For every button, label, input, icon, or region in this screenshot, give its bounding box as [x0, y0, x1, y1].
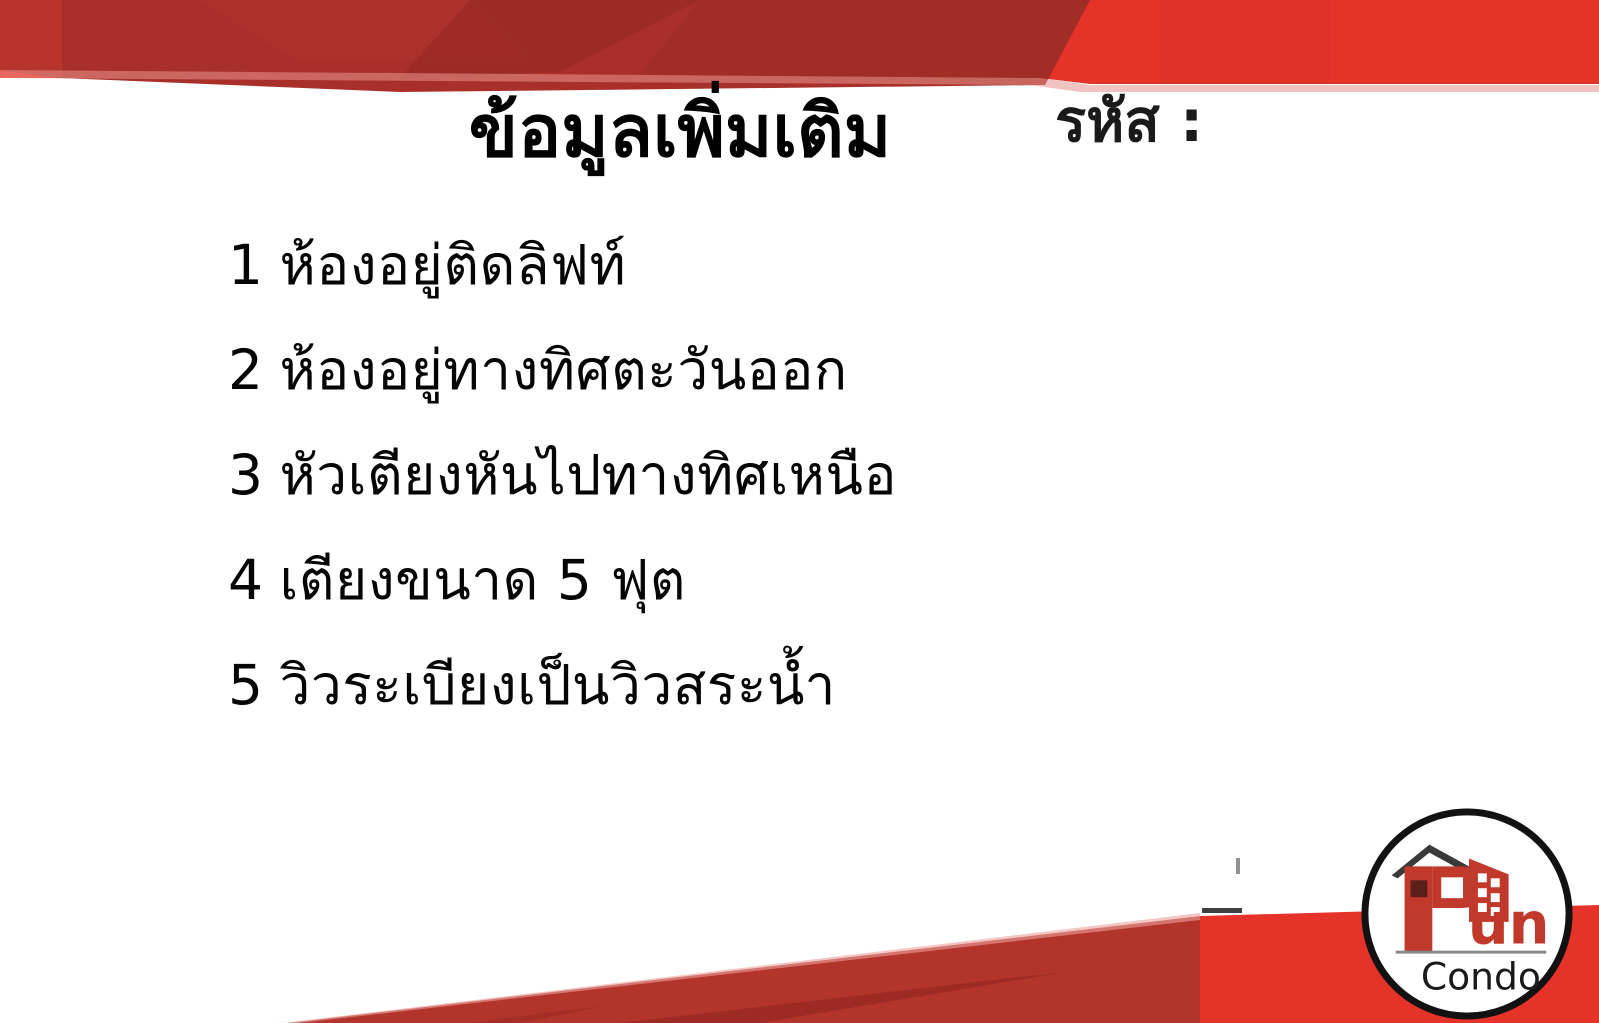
- list-item-label: หัวเตียงหันไปทางทิศเหนือ: [280, 443, 898, 507]
- list-item: 1ห้องอยู่ติดลิฟท์: [228, 238, 897, 293]
- pun-condo-logo: un Condo: [1358, 805, 1576, 1023]
- logo-underline: [1396, 951, 1547, 954]
- bottom-banner-wedge-dark: [620, 973, 1060, 1023]
- list-item: 3หัวเตียงหันไปทางทิศเหนือ: [228, 448, 897, 503]
- page-title: ข้อมูลเพิ่มเติม: [400, 95, 960, 167]
- logo-svg: un Condo: [1358, 805, 1576, 1023]
- additional-info-list: 1ห้องอยู่ติดลิฟท์2ห้องอยู่ทางทิศตะวันออก…: [228, 238, 897, 763]
- list-item-label: วิวระเบียงเป็นวิวสระน้ำ: [280, 653, 836, 717]
- logo-window-dark: [1411, 880, 1428, 897]
- top-banner-wedge-dark2: [640, 0, 1090, 85]
- list-item-label: ห้องอยู่ทางทิศตะวันออก: [280, 338, 848, 402]
- logo-brand-bottom: Condo: [1421, 954, 1541, 998]
- top-banner-wedge-dark: [400, 0, 700, 78]
- list-item-number: 1: [228, 238, 264, 293]
- top-banner-bright: [0, 0, 1599, 84]
- list-item: 2ห้องอยู่ทางทิศตะวันออก: [228, 343, 897, 398]
- bottom-banner-dark: [288, 916, 1200, 1023]
- top-banner-dark-left: [0, 0, 1090, 92]
- list-item-label: เตียงขนาด 5 ฟุต: [280, 548, 687, 612]
- logo-brand-top: un: [1468, 891, 1550, 958]
- bottom-banner-edge-glow: [283, 913, 1200, 1023]
- list-item-number: 2: [228, 343, 264, 398]
- list-item-number: 3: [228, 448, 264, 503]
- logo-p-letter-icon: [1405, 866, 1433, 951]
- code-label: รหัส :: [1055, 92, 1203, 150]
- scan-artifact-mark: [1236, 858, 1240, 874]
- logo-p-counter: [1441, 877, 1463, 898]
- list-item: 4เตียงขนาด 5 ฟุต: [228, 553, 897, 608]
- list-item-number: 5: [228, 658, 264, 713]
- top-banner-strip-mid: [200, 0, 530, 62]
- slide-canvas: ข้อมูลเพิ่มเติม รหัส : 1ห้องอยู่ติดลิฟท์…: [0, 0, 1599, 1023]
- top-banner-tone-right: [1160, 0, 1330, 84]
- list-item-label: ห้องอยู่ติดลิฟท์: [280, 233, 627, 297]
- top-banner-strip-left: [0, 0, 62, 77]
- scan-artifact-bar: [1202, 908, 1242, 913]
- list-item-number: 4: [228, 553, 264, 608]
- list-item: 5วิวระเบียงเป็นวิวสระน้ำ: [228, 658, 897, 713]
- bottom-banner-wedge-dark2: [470, 1007, 600, 1023]
